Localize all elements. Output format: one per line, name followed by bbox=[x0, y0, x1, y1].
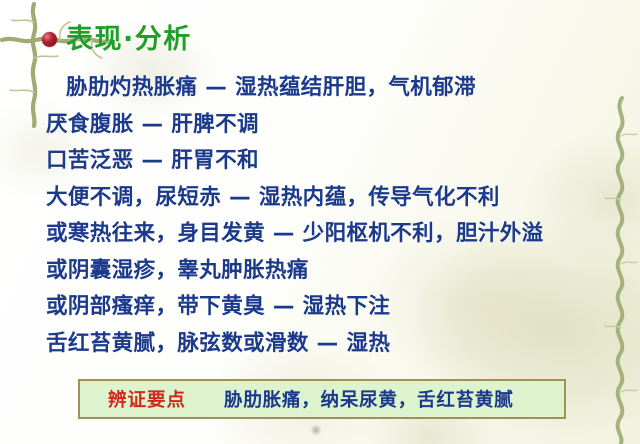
body-line: 胁肋灼热胀痛 — 湿热蕴结肝胆，气机郁滞 bbox=[0, 70, 640, 107]
body-text-block: 胁肋灼热胀痛 — 湿热蕴结肝胆，气机郁滞 厌食腹胀 — 肝脾不调 口苦泛恶 — … bbox=[0, 70, 640, 362]
body-line: 或阴囊湿疹，睾丸肿胀热痛 bbox=[0, 253, 640, 290]
page-title: 表现·分析 bbox=[42, 26, 192, 53]
key-points-value: 胁肋胀痛，纳呆尿黄，舌红苔黄腻 bbox=[224, 386, 514, 412]
body-line: 或阴部瘙痒，带下黄臭 — 湿热下注 bbox=[0, 289, 640, 326]
background-smudge bbox=[310, 424, 322, 436]
slide-canvas: 表现·分析 胁肋灼热胀痛 — 湿热蕴结肝胆，气机郁滞 厌食腹胀 — 肝脾不调 口… bbox=[0, 0, 640, 444]
key-points-label: 辨证要点 bbox=[108, 386, 186, 412]
body-line: 舌红苔黄腻，脉弦数或滑数 — 湿热 bbox=[0, 326, 640, 363]
bullet-dot-icon bbox=[42, 32, 57, 47]
body-line: 厌食腹胀 — 肝脾不调 bbox=[0, 107, 640, 144]
body-line: 大便不调，尿短赤 — 湿热内蕴，传导气化不利 bbox=[0, 180, 640, 217]
key-points-box: 辨证要点 胁肋胀痛，纳呆尿黄，舌红苔黄腻 bbox=[78, 379, 566, 419]
page-title-text: 表现·分析 bbox=[66, 26, 192, 53]
body-line: 或寒热往来，身目发黄 — 少阳枢机不利，胆汁外溢 bbox=[0, 216, 640, 253]
body-line: 口苦泛恶 — 肝胃不和 bbox=[0, 143, 640, 180]
